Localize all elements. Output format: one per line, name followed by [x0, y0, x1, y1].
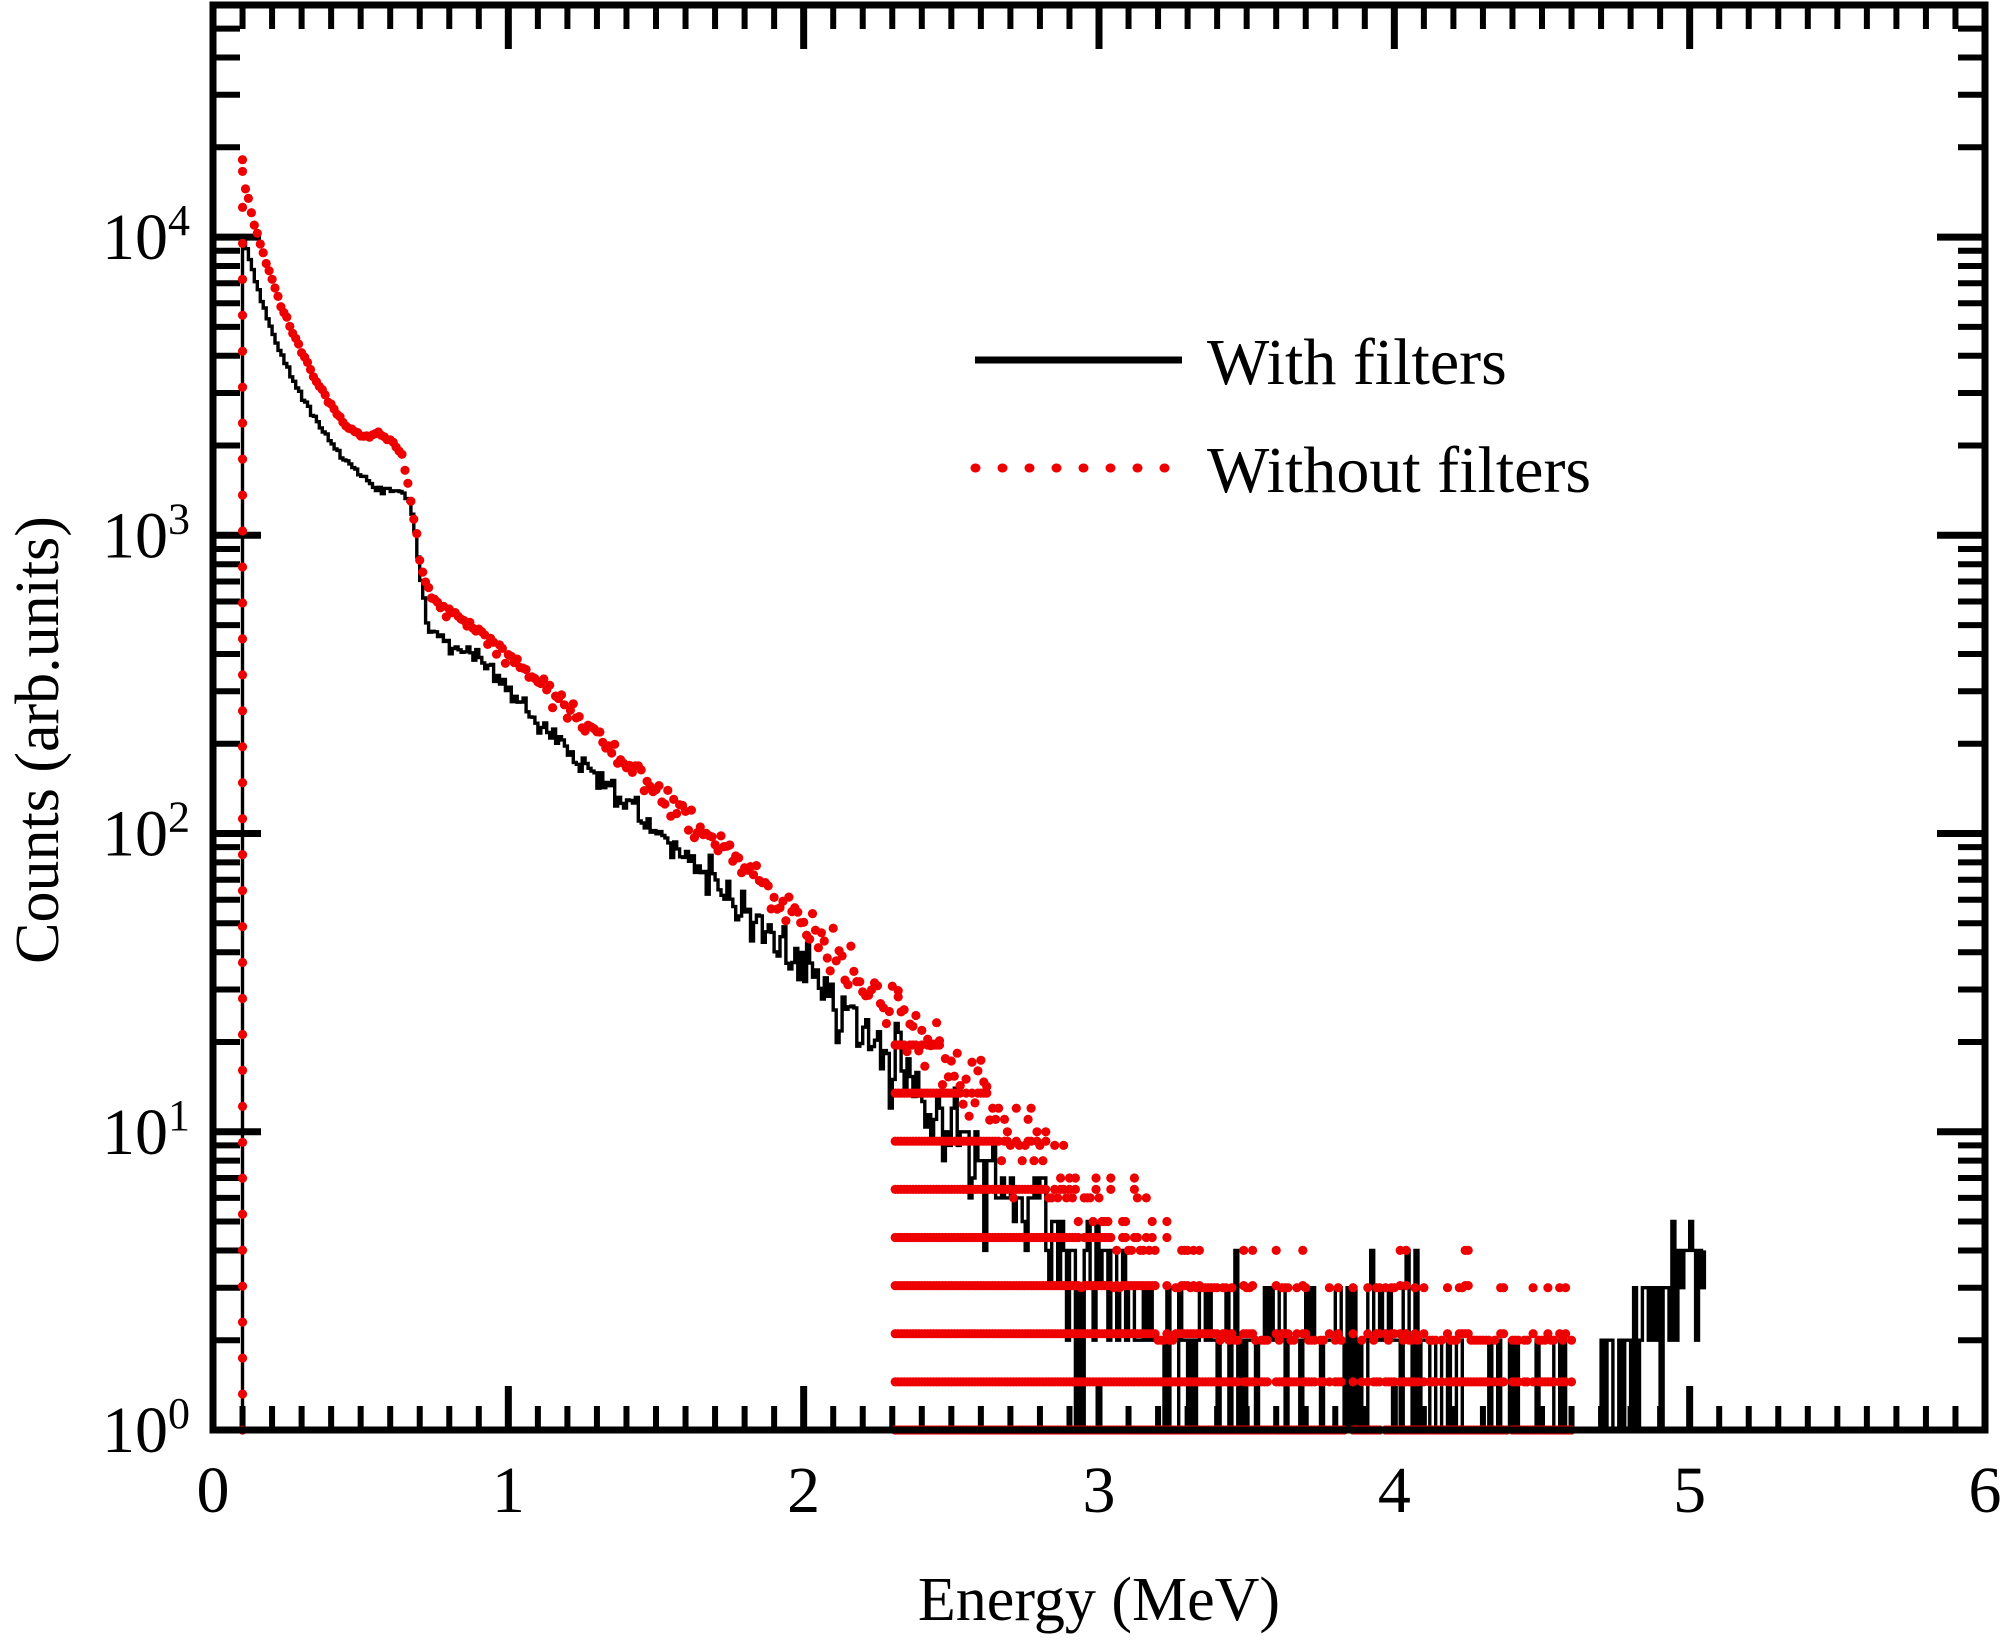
- chart-figure: 100101102103104 0123456 Energy (MeV) Cou…: [0, 0, 2005, 1646]
- energy-spectrum-chart: 100101102103104 0123456 Energy (MeV) Cou…: [0, 0, 2005, 1646]
- x-tick-label: 3: [1083, 1454, 1116, 1527]
- legend-label-with-filters: With filters: [1207, 326, 1507, 399]
- x-tick-label: 0: [197, 1454, 230, 1527]
- x-tick-label: 5: [1673, 1454, 1706, 1527]
- x-tick-label: 1: [492, 1454, 525, 1527]
- x-tick-label: 6: [1969, 1454, 2002, 1527]
- chart-background: [0, 0, 2005, 1646]
- x-tick-label: 2: [787, 1454, 820, 1527]
- y-axis-title: Counts (arb.units): [4, 516, 72, 964]
- legend-label-without-filters: Without filters: [1207, 434, 1591, 507]
- x-axis-title: Energy (MeV): [918, 1566, 1280, 1634]
- x-tick-label: 4: [1378, 1454, 1411, 1527]
